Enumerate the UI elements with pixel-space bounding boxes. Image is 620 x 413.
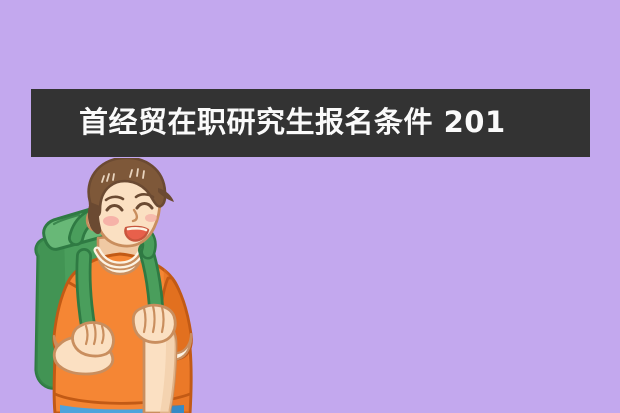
cheek-blush-right [145, 214, 157, 222]
page-title: 首经贸在职研究生报名条件 201 [79, 89, 506, 157]
student-with-backpack-illustration [24, 158, 244, 413]
cheek-blush-left [103, 216, 119, 226]
image-canvas: 首经贸在职研究生报名条件 201 [0, 0, 620, 413]
head-group [87, 158, 174, 246]
title-banner: 首经贸在职研究生报名条件 201 [31, 89, 590, 157]
